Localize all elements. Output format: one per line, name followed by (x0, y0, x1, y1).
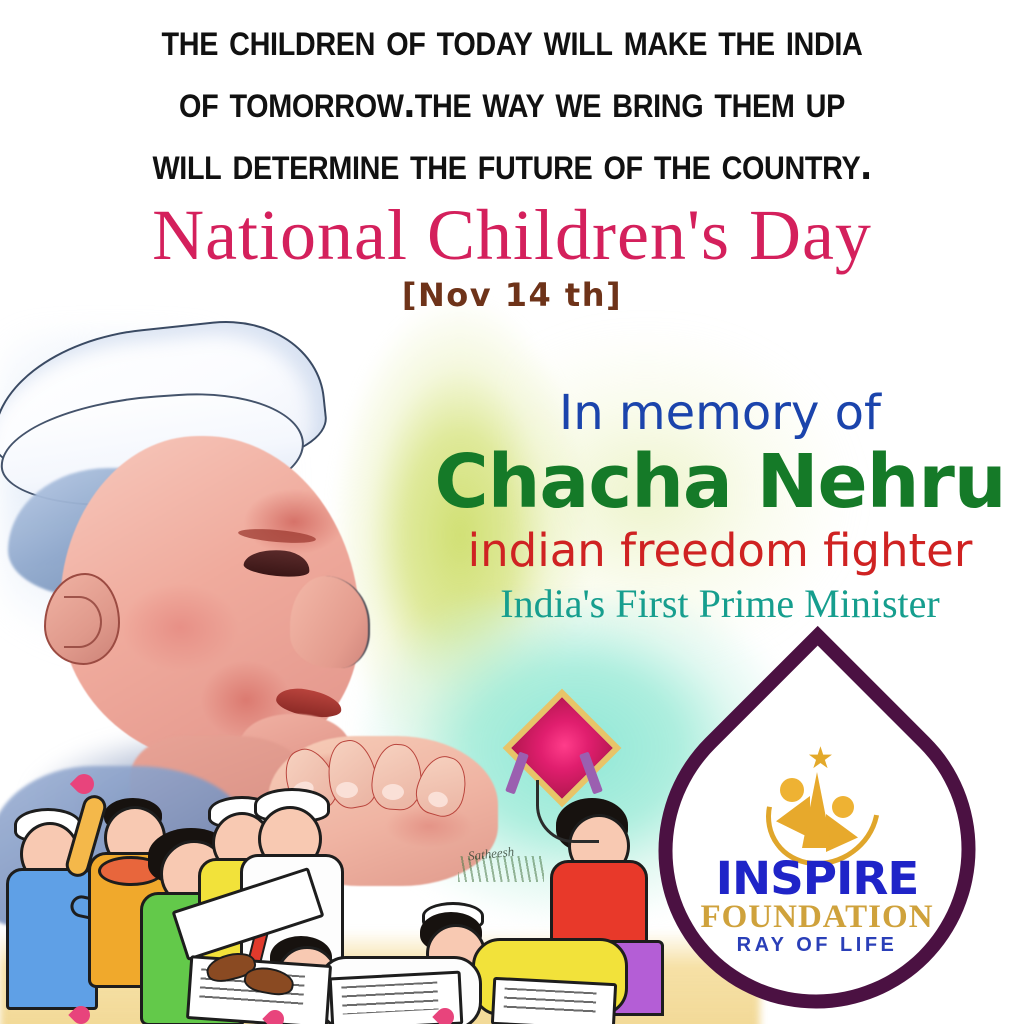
logo-brand-text: INSPIRE (641, 856, 993, 902)
logo-tagline-text: RAY OF LIFE (648, 934, 986, 956)
logo-emblem-icon: ★ (758, 744, 878, 854)
page-title: National Children's Day (0, 196, 1024, 274)
emblem-head-right (832, 796, 854, 818)
tribute-name: Chacha Nehru (430, 441, 1010, 523)
book-text-lines-3 (503, 988, 596, 1017)
flower-1 (70, 770, 98, 798)
tribute-block: In memory of Chacha Nehru indian freedom… (430, 385, 1010, 629)
headline-quote: The children of today will make the Indi… (0, 8, 1024, 194)
quote-line-3: will determine the future of the country… (51, 132, 973, 194)
nose (290, 576, 370, 668)
date-badge: [Nov 14 th] (0, 276, 1024, 314)
tribute-memory-line: In memory of (430, 385, 1010, 441)
poster-canvas: The children of today will make the Indi… (0, 0, 1024, 1024)
emblem-head-left (780, 778, 804, 802)
tribute-role: indian freedom fighter (430, 523, 1010, 579)
quote-line-2: of tomorrow.The way we bring them up (51, 70, 973, 132)
child-body-1 (6, 868, 98, 1010)
tribute-office: India's First Prime Minister (430, 579, 1010, 629)
inspire-foundation-logo[interactable]: ★ INSPIRE FOUNDATION RAY OF LIFE (648, 678, 1024, 1024)
quote-line-1: The children of today will make the Indi… (51, 8, 973, 70)
logo-subtitle-text: FOUNDATION (648, 900, 986, 934)
book-text-lines-2 (341, 982, 438, 1015)
